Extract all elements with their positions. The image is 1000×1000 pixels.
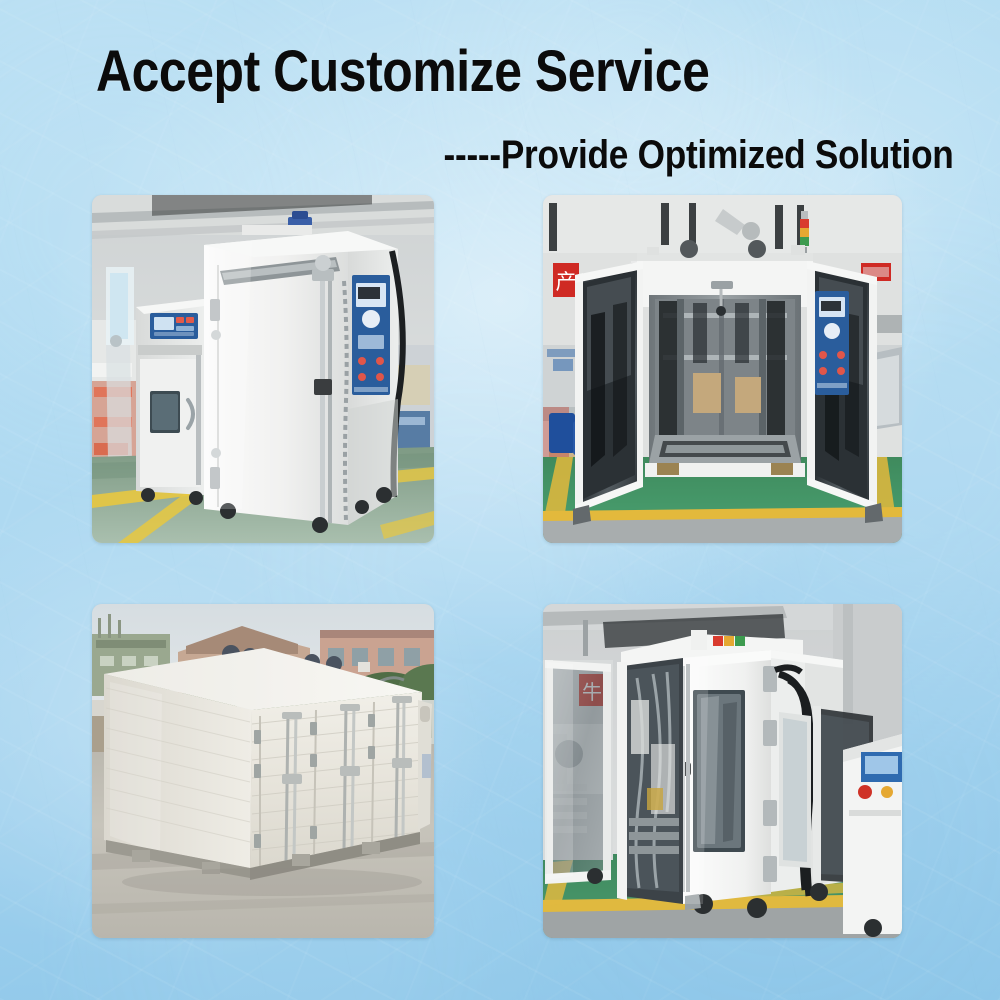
poster-canvas: Accept Customize Service -----Provide Op… <box>0 0 1000 1000</box>
photo-front-back-open-type: 产 <box>543 195 902 543</box>
photo-four-side-open-type: 牛 <box>543 604 902 938</box>
page-subtitle: -----Provide Optimized Solution <box>444 134 954 176</box>
gallery-item-front-back-open-type[interactable]: 产 <box>543 195 902 543</box>
gallery-item-four-side-open-type[interactable]: 牛 <box>543 604 902 938</box>
svg-text:产: 产 <box>556 270 577 294</box>
photo-explosion-proof-oven <box>92 195 434 543</box>
photo-three-in-one-type <box>92 604 434 938</box>
page-title: Accept Customize Service <box>96 42 709 102</box>
gallery-item-explosion-proof-oven[interactable]: Explosion-proof oven <box>92 195 434 543</box>
gallery-item-three-in-one-type[interactable]: Three in one Type <box>92 604 434 938</box>
